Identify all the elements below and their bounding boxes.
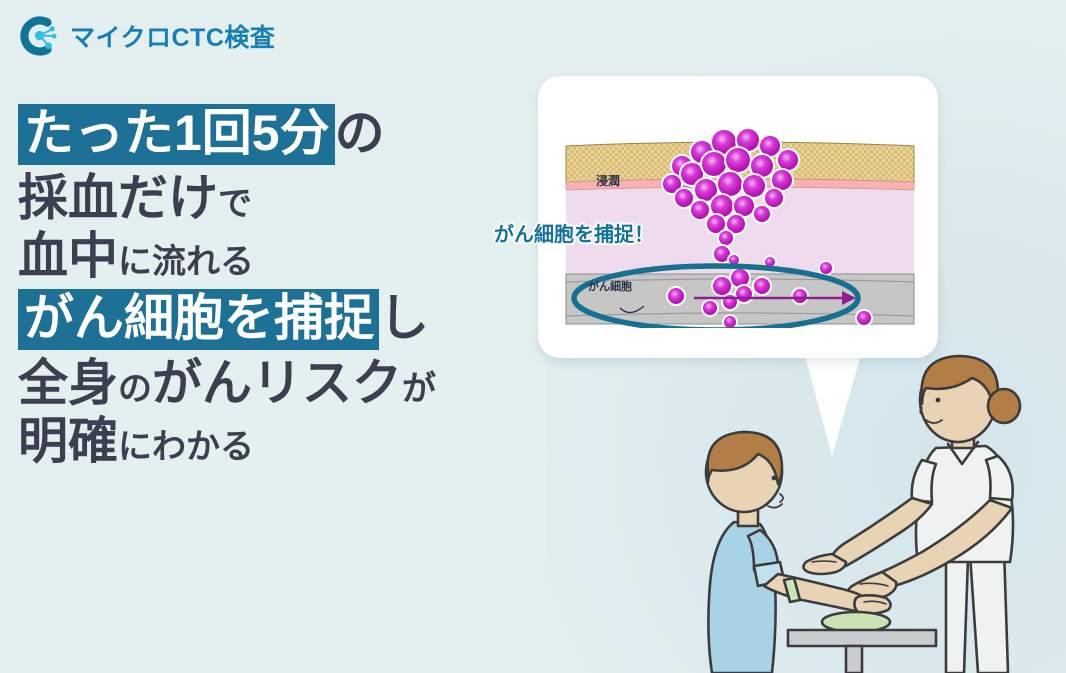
headline-highlight-2: がん細胞を捕捉 — [18, 289, 379, 350]
headline-tail-2: し — [379, 290, 429, 346]
headline-line-3-big: 血中 — [18, 228, 118, 284]
headline-line-6-big: 明確 — [18, 413, 118, 469]
capture-callout-label: がん細胞を捕捉！ — [494, 218, 654, 247]
headline-line-3-small: に流れる — [118, 243, 254, 281]
headline-line-2-small: で — [218, 185, 252, 223]
headline-line-3: 血中に流れる — [18, 231, 518, 281]
blood-draw-illustration — [660, 348, 1066, 673]
headline-highlight-1: たった1回5分 — [18, 104, 335, 165]
headline-line-4: がん細胞を捕捉し — [18, 289, 518, 350]
headline: たった1回5分の 採血だけで 血中に流れる がん細胞を捕捉し 全身のがんリスクが… — [18, 104, 518, 474]
headline-line-5: 全身のがんリスクが — [18, 358, 518, 408]
headline-line-5-big-b: がんリスク — [152, 355, 402, 411]
headline-line-5-big-a: 全身 — [18, 355, 118, 411]
headline-line-2-big: 採血だけ — [18, 170, 218, 226]
cancer-cell-label: がん細胞 — [588, 278, 632, 294]
armrest-table — [788, 612, 936, 673]
headline-line-5-small-a: の — [118, 370, 152, 408]
headline-line-2: 採血だけで — [18, 173, 518, 223]
headline-line-1: たった1回5分の — [18, 104, 518, 165]
headline-line-5-small-b: が — [402, 370, 436, 408]
invasion-label: 浸潤 — [596, 172, 620, 189]
brand-logo: マイクロCTC検査 — [17, 14, 275, 58]
headline-line-6: 明確にわかる — [18, 416, 518, 466]
ctc-c-molecule-icon — [17, 14, 61, 58]
headline-line-6-small: にわかる — [118, 428, 254, 466]
headline-tail-1: の — [335, 105, 385, 161]
brand-logo-text: マイクロCTC検査 — [70, 18, 275, 54]
